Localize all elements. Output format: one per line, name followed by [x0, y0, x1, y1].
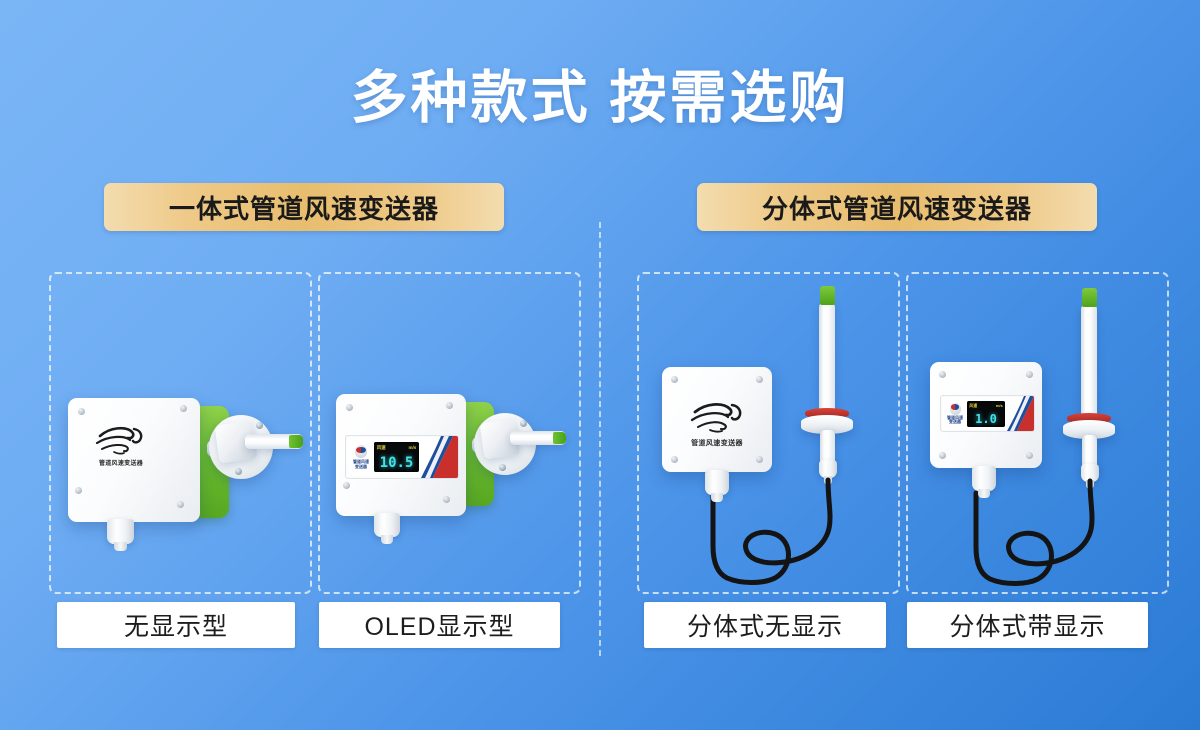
mount-screw-top: [520, 420, 527, 427]
cable-gland: [972, 466, 996, 491]
product-caption-integrated-no-display: 无显示型: [57, 602, 295, 648]
product-image-split-no-display: 管道风速变送器: [637, 272, 896, 590]
oled-label-left: 风速: [377, 445, 386, 451]
oled-header: 风速 m/s: [377, 445, 417, 451]
shield-icon: [355, 445, 367, 458]
mount-screw-bottom: [235, 468, 242, 475]
enclosure-screw-br: [177, 501, 184, 508]
brand-logo: 管道风速 变送器: [941, 396, 967, 431]
oled-label-right: m/s: [409, 445, 417, 450]
enclosure-screw-tr: [180, 405, 187, 412]
mount-screw-bottom: [499, 464, 506, 471]
enclosure-screw-br: [1026, 452, 1033, 459]
enclosure-screw-br: [443, 496, 450, 503]
product-caption-split-no-display: 分体式无显示: [644, 602, 886, 648]
wind-swirl-icon: [94, 423, 146, 457]
brand-swoosh-graphic: [1005, 396, 1034, 431]
enclosure-screw-tl: [78, 408, 85, 415]
product-image-integrated-no-display: 管道风速变送器: [49, 272, 308, 590]
enclosure-screw-br: [756, 456, 763, 463]
enclosure-logo-text: 管道风速变送器: [88, 458, 154, 467]
enclosure-screw-bl: [75, 487, 82, 494]
cable-gland: [374, 513, 400, 537]
oled-label-right: m/s: [996, 403, 1003, 408]
enclosure-screw-bl: [671, 456, 678, 463]
enclosure-screw-tl: [671, 376, 678, 383]
enclosure-screw-bl: [939, 452, 946, 459]
probe-tip: [820, 286, 835, 305]
oled-value: 10.5: [374, 456, 419, 470]
probe-tube-upper: [1081, 304, 1097, 424]
display-face-panel: 管道风速 变送器 风速 m/s 10.5: [345, 435, 459, 479]
oled-screen: 风速 m/s 10.5: [374, 442, 419, 472]
brand-text-line2: 变送器: [949, 420, 961, 424]
oled-screen: 风速 m/s 1.0: [967, 401, 1005, 427]
cable-gland: [107, 519, 134, 544]
oled-header: 风速 m/s: [969, 403, 1002, 409]
section-badge-integrated: 一体式管道风速变送器: [104, 183, 504, 231]
product-image-split-with-display: 管道风速 变送器 风速 m/s 1.0: [906, 272, 1165, 590]
enclosure-screw-tr: [756, 376, 763, 383]
enclosure-screw-tl: [346, 404, 353, 411]
mount-screw-top: [256, 422, 263, 429]
page-title: 多种款式 按需选购: [0, 52, 1200, 134]
product-showcase-poster: 多种款式 按需选购 一体式管道风速变送器 分体式管道风速变送器: [0, 0, 1200, 730]
wind-swirl-icon: [689, 399, 745, 435]
product-image-integrated-oled: 管道风速 变送器 风速 m/s 10.5: [318, 272, 577, 590]
section-badge-split: 分体式管道风速变送器: [697, 183, 1097, 231]
enclosure-screw-tr: [1026, 371, 1033, 378]
probe-tip: [1082, 288, 1097, 307]
shield-icon: [950, 403, 961, 415]
probe-tip: [289, 435, 303, 448]
cable-gland: [705, 470, 729, 495]
enclosure-logo-text: 管道风速变送器: [681, 438, 753, 448]
oled-label-left: 风速: [969, 403, 977, 409]
oled-value: 1.0: [967, 413, 1005, 425]
display-face-panel: 管道风速 变送器 风速 m/s 1.0: [940, 395, 1035, 432]
brand-swoosh-graphic: [419, 436, 458, 478]
enclosure-screw-bl: [343, 482, 350, 489]
enclosure-screw-tr: [446, 402, 453, 409]
section-divider: [599, 222, 601, 656]
enclosure-screw-tl: [939, 371, 946, 378]
product-caption-split-with-display: 分体式带显示: [907, 602, 1148, 648]
probe-tip: [553, 432, 566, 444]
brand-logo: 管道风速 变送器: [346, 436, 374, 478]
product-caption-integrated-oled: OLED显示型: [319, 602, 560, 648]
brand-text-line2: 变送器: [355, 465, 367, 469]
